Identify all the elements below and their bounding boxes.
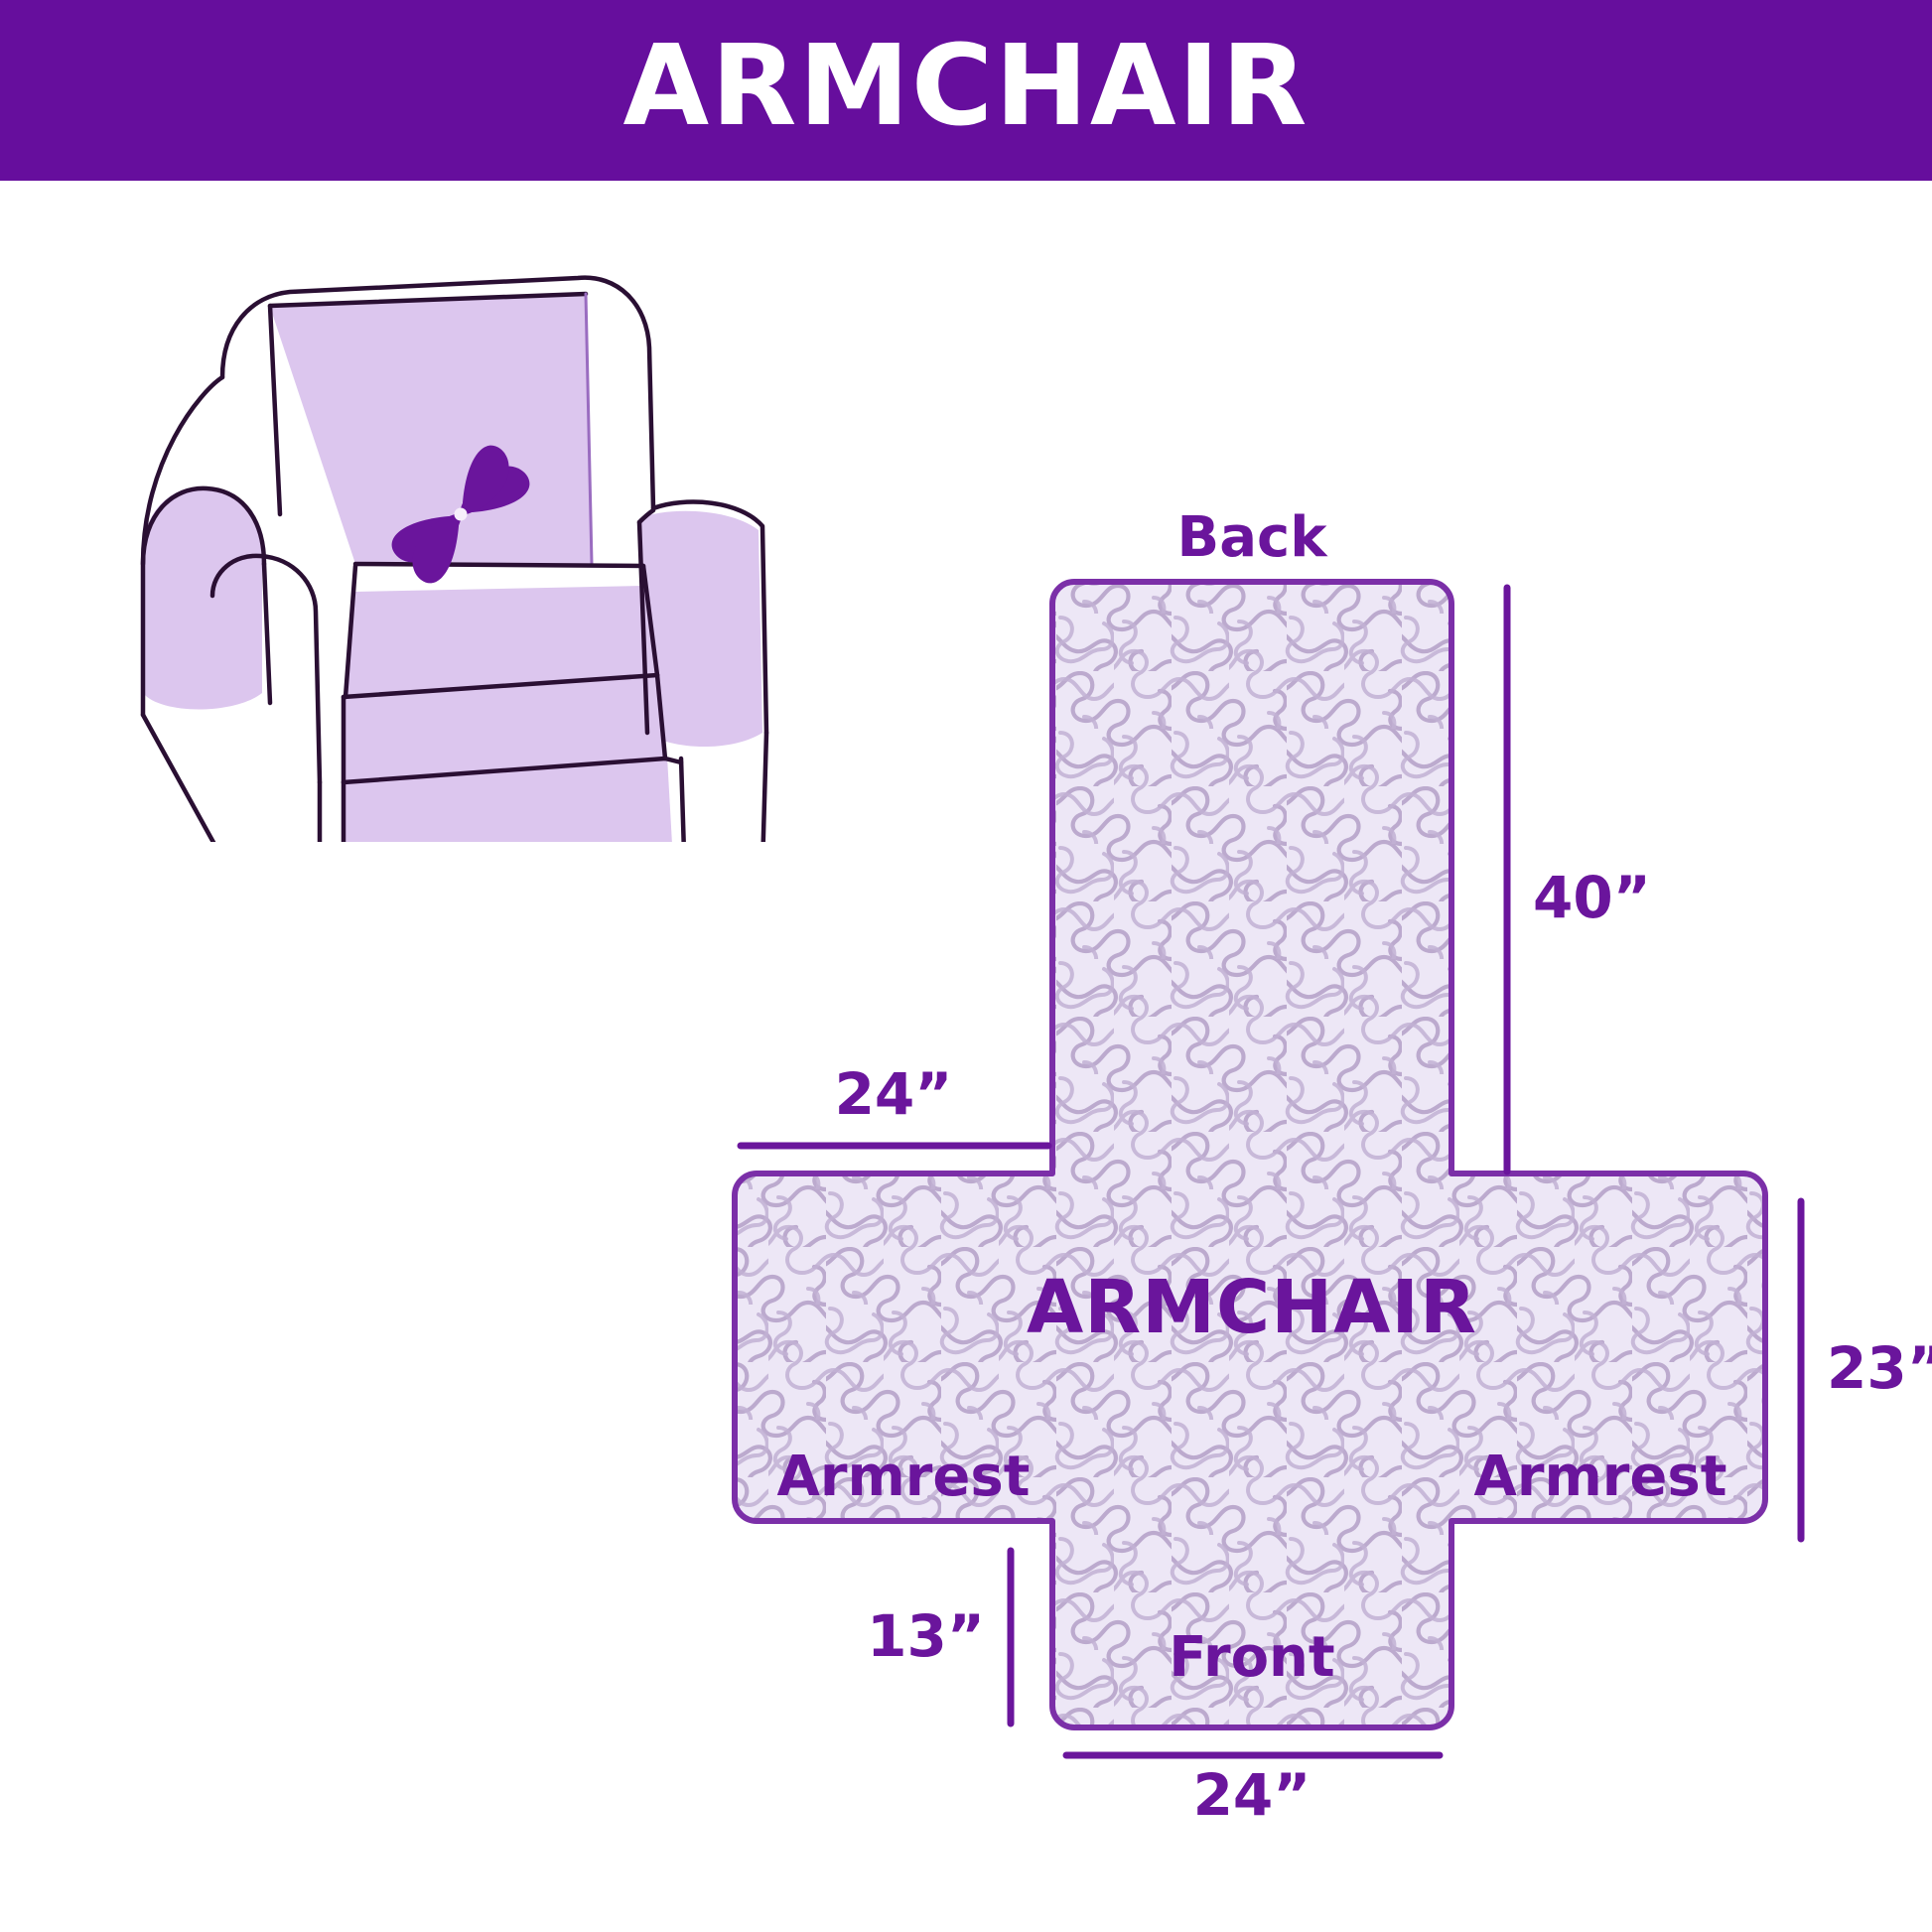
dimension-back-width: 24” — [741, 1060, 1048, 1146]
dimension-label-24-top: 24” — [835, 1060, 953, 1128]
dimension-label-23: 23” — [1827, 1334, 1932, 1402]
panel-label-center: ARMCHAIR — [1027, 1265, 1477, 1350]
panel-label-armrest-right: Armrest — [1473, 1445, 1726, 1509]
dimension-armrest-height: 23” — [1801, 1201, 1932, 1539]
dimension-back-height: 40” — [1507, 588, 1651, 1172]
header-band: ARMCHAIR — [0, 0, 1932, 181]
cover-dimension-diagram: Back ARMCHAIR Armrest Armrest Front 40” … — [596, 556, 1886, 1837]
cover-cross-shape — [735, 582, 1765, 1727]
panel-label-front: Front — [1169, 1625, 1334, 1690]
dimension-front-width: 24” — [1066, 1755, 1440, 1829]
dimension-label-40: 40” — [1533, 864, 1651, 931]
dimension-label-24-bottom: 24” — [1193, 1761, 1311, 1829]
dimension-label-13: 13” — [867, 1602, 985, 1670]
dimension-front-height: 13” — [867, 1551, 1011, 1724]
panel-label-armrest-left: Armrest — [776, 1445, 1030, 1509]
page-root: ARMCHAIR — [0, 0, 1932, 1932]
panel-label-back: Back — [1177, 505, 1329, 570]
page-title: ARMCHAIR — [623, 31, 1310, 142]
